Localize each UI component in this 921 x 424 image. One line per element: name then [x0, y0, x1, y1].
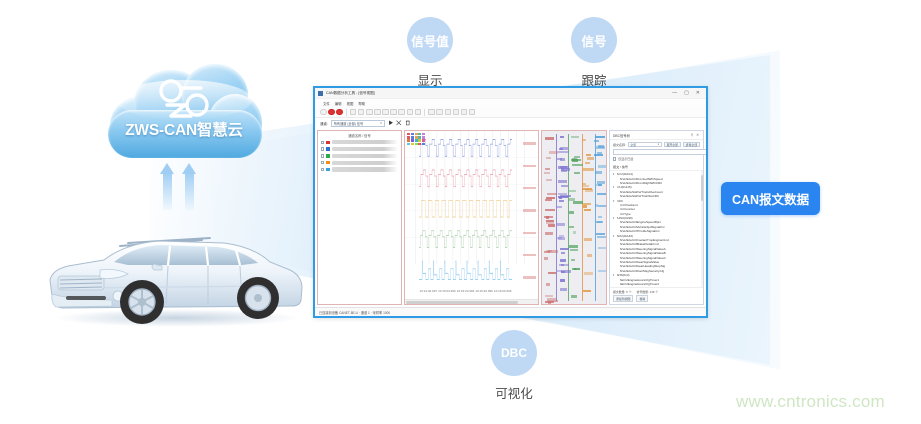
event-marker	[569, 211, 573, 213]
tree-twisty-icon[interactable]: ▾	[612, 273, 615, 277]
event-marker	[560, 248, 569, 250]
event-marker	[549, 151, 559, 153]
tree-node-label: AtVehicleCtrlGearSignalValue	[620, 260, 660, 264]
palette-icon[interactable]	[461, 109, 468, 116]
dbc-tree[interactable]: ▾ACU(0x101)AtVehicleCtrlFrontLeftWhlSpee…	[610, 171, 703, 287]
waveform-chart-panel[interactable]: 10:14:46.997 10:15:03.996 10:15:20.996 1…	[404, 130, 539, 305]
close-button[interactable]: ✕	[696, 90, 700, 96]
channel-select-value: 所有通道 (全部) 信号	[334, 121, 363, 126]
menu-bar: 文件 编辑 视图 帮助	[315, 99, 706, 107]
event-marker	[572, 159, 578, 161]
table-icon[interactable]	[366, 109, 373, 116]
event-marker	[545, 301, 554, 303]
application-window: CAN数据分析工具 - [信号视图] — ▢ ✕ 文件 编辑 视图 帮助	[313, 86, 708, 318]
dbc-show-selected-label: 仅显示已选	[618, 157, 633, 161]
event-marker	[545, 137, 554, 139]
dbc-panel-footer: 报文数量: 6 个 信号数量: 136 个	[610, 287, 703, 295]
event-marker	[548, 224, 555, 226]
event-marker	[598, 184, 603, 186]
dbc-panel-actions: 添加到视图 移除	[610, 295, 703, 304]
menu-item-view[interactable]: 视图	[347, 101, 354, 106]
tree-node-label: AtVehicleCtrlSteeringSignalValueB	[620, 251, 666, 255]
legend-color-cell	[411, 139, 414, 141]
save-icon[interactable]	[328, 109, 335, 116]
tree-node-label: AtVehicleStsPwrTrainAliveCount	[620, 190, 663, 194]
chart-x-axis: 10:14:46.997 10:15:03.996 10:15:20.996 1…	[419, 289, 512, 298]
tree-node-label: CrcType	[620, 212, 631, 216]
event-marker	[546, 179, 552, 181]
event-marker	[545, 199, 552, 201]
grid-icon[interactable]	[358, 109, 365, 116]
event-marker	[596, 233, 605, 235]
badge-circle-signal-value: 信号值	[407, 17, 453, 63]
signal-tracking-panel[interactable]	[541, 130, 607, 305]
event-marker	[583, 203, 592, 205]
badge-caption-dbc: 可视化	[490, 383, 538, 402]
window-body: 通道名称 / 信号	[315, 128, 706, 307]
event-marker	[573, 231, 577, 233]
chevron-down-icon: ▾	[658, 143, 659, 146]
chart-icon[interactable]	[374, 109, 381, 116]
event-marker	[558, 151, 568, 153]
legend-color-cell	[411, 143, 414, 145]
legend-color-cell	[411, 133, 414, 135]
channel-checkbox[interactable]	[321, 147, 324, 150]
cloud-graphic: ZWS-CAN智慧云	[104, 62, 264, 158]
tree-node-label: AtVehicleCtrlFrontRightWhlCRC	[620, 181, 663, 185]
chart-plot-area[interactable]: 10:14:46.997 10:15:03.996 10:15:20.996 1…	[405, 131, 538, 299]
channel-row[interactable]	[318, 139, 401, 146]
upload-arrow-icon	[182, 162, 197, 210]
event-marker	[571, 259, 575, 261]
legend-color-cell	[422, 143, 425, 145]
legend-color-cell	[422, 139, 425, 141]
event-marker	[548, 272, 556, 274]
event-marker	[594, 140, 599, 142]
toolbar-separator	[346, 109, 347, 116]
channel-color-swatch	[326, 141, 329, 144]
dbc-filter-row: 报文名称: 全部 ▾ 展开全部 折叠全部	[610, 140, 703, 148]
badge-dbc: DBC 可视化	[490, 330, 538, 402]
minimize-button[interactable]: —	[672, 90, 677, 96]
legend-color-cell	[418, 139, 421, 141]
event-marker	[587, 157, 594, 159]
event-marker	[582, 185, 589, 187]
event-marker	[557, 206, 562, 208]
event-marker	[585, 189, 593, 191]
event-marker	[595, 136, 605, 138]
legend-color-cell	[418, 143, 421, 145]
event-marker	[559, 200, 563, 202]
play-icon[interactable]	[388, 120, 394, 126]
tree-node-label: AtVehicleCtrlThrottleSignalCrc	[620, 229, 660, 233]
event-marker	[572, 164, 582, 166]
event-marker	[557, 223, 566, 225]
event-marker	[587, 254, 593, 256]
channel-color-swatch	[326, 168, 329, 171]
print-icon[interactable]	[445, 109, 452, 116]
channel-checkbox[interactable]	[321, 141, 324, 144]
refresh-icon[interactable]	[469, 109, 476, 116]
legend-color-cell	[415, 139, 418, 141]
waveform-traces	[419, 135, 512, 287]
tree-node-label: AtVehicleCtrlSteeringSignalValueC	[620, 256, 666, 260]
event-marker	[583, 290, 592, 292]
channel-name	[332, 154, 398, 158]
channel-color-swatch	[326, 147, 329, 150]
filter-label: 通道:	[320, 121, 328, 126]
event-marker	[571, 295, 578, 297]
tree-node-label: SNS(0x3)	[617, 273, 630, 277]
tree-node-label: AtVehicleCtrlFrontLeftWhlSpeed	[620, 177, 663, 181]
site-watermark: www.cntronics.com	[736, 392, 885, 412]
event-marker	[597, 304, 604, 305]
channel-row[interactable]	[318, 166, 401, 173]
event-marker	[561, 270, 571, 272]
menu-item-help[interactable]: 帮助	[358, 101, 365, 106]
suv-car-illustration	[42, 218, 312, 328]
event-marker	[560, 136, 565, 138]
event-marker	[561, 252, 565, 254]
event-marker	[546, 197, 556, 199]
dbc-search-row: 搜索	[610, 148, 703, 157]
channel-name	[332, 167, 398, 171]
event-marker	[546, 157, 552, 159]
event-marker	[597, 221, 602, 223]
dbc-message-select-value: 全部	[630, 143, 636, 147]
legend-color-cell	[411, 136, 414, 138]
upload-arrows	[158, 162, 210, 210]
tree-twisty-icon[interactable]: ▾	[612, 172, 615, 176]
channel-color-swatch	[326, 161, 329, 164]
event-timeline	[595, 134, 596, 301]
wave-icon[interactable]	[382, 109, 389, 116]
channel-name	[332, 161, 398, 165]
event-marker	[544, 251, 550, 253]
toolbar	[315, 107, 706, 118]
zoom-out-icon[interactable]	[407, 109, 414, 116]
maximize-button[interactable]: ▢	[684, 90, 689, 96]
event-marker	[583, 205, 587, 207]
badge-signal-value: 信号值 显示	[406, 17, 454, 89]
window-title: CAN数据分析工具 - [信号视图]	[326, 91, 375, 96]
tree-node-label: CRC	[617, 199, 624, 203]
event-marker	[545, 168, 550, 170]
event-marker	[546, 222, 553, 224]
y-axis-value-marker	[523, 209, 536, 212]
channel-row[interactable]	[318, 159, 401, 166]
channel-name	[332, 147, 398, 151]
legend-color-cell	[415, 136, 418, 138]
event-marker	[545, 232, 552, 234]
tree-node-label: AtVehicleCtrlEngineSpeedRpm	[620, 220, 662, 224]
cloud-label: ZWS-CAN智慧云	[104, 118, 264, 140]
x-axis-tick: 10:15:20.996	[457, 289, 475, 293]
x-axis-tick: 10:15:40.996	[475, 289, 493, 293]
record-icon[interactable]	[336, 109, 343, 116]
legend-color-cell	[407, 136, 410, 138]
event-marker	[573, 201, 583, 203]
dbc-message-select[interactable]: 全部 ▾	[628, 142, 662, 147]
event-marker	[598, 165, 606, 167]
expand-all-button[interactable]: 展开全部	[664, 142, 681, 147]
event-marker	[586, 154, 591, 156]
settings-icon[interactable]	[453, 109, 460, 116]
event-marker	[584, 209, 591, 211]
tree-node-label: AtVehicleStsPwrTrainStsCRC	[620, 194, 660, 198]
channel-row[interactable]	[318, 153, 401, 160]
remove-button[interactable]: 移除	[636, 295, 648, 302]
channel-select[interactable]: 所有通道 (全部) 信号 ▾	[331, 120, 385, 127]
event-marker	[598, 205, 607, 207]
tree-node-label: AtVehicleCtrlGearHeadingStopSig	[620, 264, 666, 268]
legend-color-cell	[415, 143, 418, 145]
chart-horizontal-scrollbar[interactable]	[405, 299, 538, 304]
y-axis-value-marker	[523, 165, 536, 168]
open-icon[interactable]	[320, 109, 327, 116]
tree-node-label: AtVehicleCtrlVehicleSpdSignalCrc	[620, 225, 665, 229]
legend-color-cell	[418, 136, 421, 138]
event-marker	[597, 236, 606, 238]
upload-arrow-icon	[160, 162, 175, 210]
y-axis-value-marker	[523, 187, 536, 190]
event-marker	[569, 245, 578, 247]
y-axis-value-marker	[523, 276, 536, 279]
event-marker	[544, 172, 549, 174]
tree-twisty-icon[interactable]: ▾	[612, 216, 615, 220]
app-icon	[318, 91, 323, 96]
tree-node-label: CrcChecksum	[620, 203, 639, 207]
trace-coolant-temp	[419, 200, 512, 217]
channel-checkbox[interactable]	[321, 161, 324, 164]
event-marker	[560, 279, 565, 281]
chart-y-axis-markers	[512, 133, 536, 287]
tree-node-label: AECUEngineHoursCfgTimer1	[620, 278, 660, 282]
event-marker	[569, 226, 573, 228]
tree-twisty-icon[interactable]: ▾	[612, 199, 615, 203]
event-marker	[545, 209, 555, 211]
event-marker	[558, 180, 567, 182]
cursor-icon[interactable]	[428, 109, 435, 116]
y-axis-value-marker	[523, 142, 536, 145]
event-marker	[584, 272, 593, 274]
can-message-data-label: CAN报文数据	[721, 182, 820, 215]
dbc-tree-scrollbar[interactable]	[701, 171, 704, 287]
legend-color-cell	[407, 143, 410, 145]
event-marker	[585, 162, 590, 164]
filter-icon[interactable]	[390, 109, 397, 116]
channel-checkbox[interactable]	[321, 154, 324, 157]
event-marker	[582, 139, 586, 141]
event-timeline	[582, 134, 583, 301]
y-axis-value-marker	[523, 232, 536, 235]
x-axis-tick: 10:16:00.996	[494, 289, 512, 293]
event-marker	[546, 216, 549, 218]
legend-color-cell	[418, 133, 421, 135]
toolbar-separator	[424, 109, 425, 116]
scrollbar-thumb[interactable]	[406, 301, 518, 304]
event-marker	[559, 264, 569, 266]
event-marker	[595, 171, 602, 173]
dbc-search-input[interactable]	[613, 149, 708, 155]
channel-color-swatch	[326, 154, 329, 157]
event-marker	[598, 270, 606, 272]
legend-color-cell	[422, 133, 425, 135]
event-marker	[546, 283, 550, 285]
menu-item-file[interactable]: 文件	[323, 101, 330, 106]
measure-icon[interactable]	[415, 109, 422, 116]
event-marker	[598, 247, 607, 249]
window-title-bar: CAN数据分析工具 - [信号视图] — ▢ ✕	[315, 88, 706, 99]
menu-item-edit[interactable]: 编辑	[335, 101, 342, 106]
status-bar: 已连接到设备 CANET-8E-U · 通道 1 · 采样率 1000	[315, 307, 706, 316]
scrollbar-thumb[interactable]	[701, 175, 704, 201]
badge-circle-dbc: DBC	[491, 330, 537, 376]
trace-throttle-pos	[419, 231, 512, 248]
badge-signal: 信号 跟踪	[570, 17, 618, 89]
dbc-filter-label: 报文名称:	[613, 143, 626, 147]
dbc-panel-title: DBC信号树	[613, 133, 630, 138]
tree-node-label: AJSU(0x90)	[617, 216, 633, 220]
trace-vehicle-speed	[419, 140, 512, 157]
legend-color-cell	[407, 139, 410, 141]
y-axis-value-marker	[523, 254, 536, 257]
event-marker	[569, 190, 576, 192]
event-marker	[557, 270, 561, 272]
event-marker	[584, 238, 592, 240]
cut-icon[interactable]	[396, 120, 402, 126]
event-marker	[560, 259, 566, 261]
event-timeline	[568, 134, 569, 301]
event-marker	[560, 288, 567, 290]
dbc-tree-header: 报文 / 信号	[610, 163, 703, 171]
event-marker	[583, 168, 594, 170]
tree-node-label: CrcCounter	[620, 207, 635, 211]
event-marker	[547, 193, 556, 195]
stop-icon[interactable]	[350, 109, 357, 116]
event-marker	[594, 154, 602, 156]
zoom-in-icon[interactable]	[398, 109, 405, 116]
tree-node-label: AtVehicleCtrlCoolantTmpEngineCmd	[620, 238, 669, 242]
event-marker	[561, 168, 570, 170]
tree-node-label: AtVehicleCtrlBrakePedalCmd	[620, 242, 659, 246]
tree-node-label: AECUEngineHoursCfgTimer2	[620, 282, 660, 286]
tree-node-label: AECUSystemT	[620, 286, 640, 287]
dbc-show-selected-checkbox[interactable]	[613, 157, 616, 160]
chart-legend-grid	[407, 133, 425, 145]
chevron-down-icon: ▾	[380, 121, 382, 125]
badge-circle-signal: 信号	[571, 17, 617, 63]
trace-engine-speed	[419, 170, 512, 187]
tree-node-label: ICU(0x115)	[617, 185, 632, 189]
filter-bar: 通道: 所有通道 (全部) 信号 ▾	[315, 118, 706, 128]
x-axis-tick: 10:14:46.997	[420, 289, 438, 293]
channel-name	[332, 140, 398, 144]
pin-close-icon[interactable]: ⚲ ✕	[691, 133, 700, 137]
channel-list-panel: 通道名称 / 信号	[317, 130, 402, 305]
x-axis-tick: 10:15:03.996	[438, 289, 456, 293]
status-text: 已连接到设备 CANET-8E-U · 通道 1 · 采样率 1000	[319, 310, 390, 315]
event-marker	[598, 216, 602, 218]
tree-node-label: ACU(0x101)	[617, 172, 634, 176]
dbc-signal-count: 信号数量: 136 个	[636, 290, 658, 294]
add-to-view-button[interactable]: 添加到视图	[613, 295, 633, 302]
dbc-message-count: 报文数量: 6 个	[613, 290, 631, 294]
tree-node-label: AtVehicleCtrlSteeringSignalValueA	[620, 247, 666, 251]
delete-icon[interactable]	[405, 120, 411, 126]
channel-list-header: 通道名称 / 信号	[318, 131, 401, 139]
event-marker	[574, 172, 580, 174]
channel-row[interactable]	[318, 146, 401, 153]
event-marker	[597, 193, 606, 195]
tree-node-label: AtVehicleCtrlDoorMsgSecurityCfg	[620, 269, 665, 273]
tree-twisty-icon[interactable]: ▾	[612, 234, 615, 238]
dbc-signal-tree-panel: DBC信号树 ⚲ ✕ 报文名称: 全部 ▾ 展开全部 折叠全部 搜索 仅显示已选	[609, 130, 704, 305]
channel-checkbox[interactable]	[321, 168, 324, 171]
collapse-all-button[interactable]: 折叠全部	[683, 142, 700, 147]
tree-node-label: ADU(0x140)	[617, 234, 634, 238]
event-marker	[570, 249, 578, 251]
tree-twisty-icon[interactable]: ▾	[612, 185, 615, 189]
trace-brake-pedal	[419, 261, 512, 279]
dbc-signal-node[interactable]: AECUSystemT	[612, 286, 701, 287]
legend-color-cell	[422, 136, 425, 138]
event-marker	[596, 146, 605, 148]
dbc-panel-header: DBC信号树 ⚲ ✕	[610, 131, 703, 140]
zws-logo-icon	[151, 78, 219, 118]
legend-color-cell	[415, 133, 418, 135]
event-marker	[571, 136, 579, 138]
window-controls: — ▢ ✕	[672, 90, 703, 96]
export-icon[interactable]	[436, 109, 443, 116]
legend-color-cell	[407, 133, 410, 135]
event-marker	[544, 257, 548, 259]
